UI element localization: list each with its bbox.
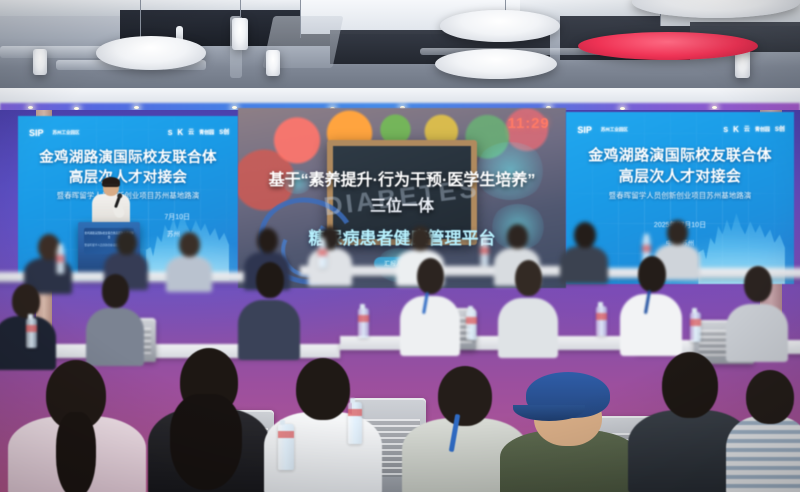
partner-logo-5: S创: [219, 130, 229, 136]
left-banner-title-line1: 金鸡湖路演国际校友联合体: [18, 146, 238, 167]
partner-logo-4: 青创园: [199, 131, 214, 136]
conference-photo: SIP 苏州工业园区 S K 云 青创园 S创 金鸡湖路演国际校友联合体 高层次…: [0, 0, 800, 492]
left-banner-logos: SIP 苏州工业园区 S K 云 青创园 S创: [29, 124, 229, 142]
partner-logo-4: 青创园: [755, 128, 770, 133]
right-banner-title-line2: 高层次人才对接会: [566, 165, 794, 186]
disc-pendant-light: [96, 36, 206, 70]
audience-person: [146, 348, 272, 492]
screen-corner-number: 11:29: [508, 115, 550, 132]
red-disc-pendant-light: [578, 32, 758, 60]
water-bottle: [466, 310, 477, 340]
sip-secondary-logo: 苏州工业园区: [53, 131, 80, 136]
audience-person: [726, 370, 800, 492]
sip-logo: SIP: [29, 129, 44, 138]
water-bottle: [348, 402, 362, 444]
sip-secondary-logo: 苏州工业园区: [601, 128, 628, 133]
water-bottle: [26, 318, 37, 348]
right-banner-subtitle: 暨春晖留学人员创新创业项目苏州基地路演: [566, 190, 794, 201]
center-screen-line2: 三位一体: [238, 192, 566, 216]
pendant-light: [266, 50, 280, 76]
audience-area: [0, 232, 800, 492]
partner-logo-3: 云: [188, 130, 194, 136]
water-bottle: [358, 308, 369, 338]
water-bottle: [278, 424, 294, 470]
audience-person: [8, 360, 146, 492]
partner-logo-1: S: [723, 127, 728, 134]
pendant-light: [232, 18, 248, 50]
right-banner-logos: SIP 苏州工业园区 S K 云 青创园 S创: [577, 121, 785, 140]
partner-logo-5: S创: [775, 127, 785, 133]
water-bottle: [690, 312, 701, 342]
center-screen-line1: 基于“素养提升·行为干预·医学生培养”: [238, 166, 566, 190]
right-banner-title-line1: 金鸡湖路演国际校友联合体: [566, 144, 794, 165]
sip-logo: SIP: [577, 126, 592, 135]
partner-logo-2: K: [733, 126, 739, 134]
disc-pendant-light: [435, 49, 557, 79]
ceiling: [0, 0, 800, 96]
baseball-cap: [526, 372, 610, 418]
audience-person-with-cap: [500, 378, 640, 492]
disc-pendant-light: [440, 10, 560, 42]
partner-logo-3: 云: [744, 127, 750, 133]
pendant-light: [33, 49, 47, 75]
water-bottle: [596, 306, 607, 336]
partner-logo-2: K: [177, 129, 183, 137]
partner-logo-1: S: [168, 130, 173, 137]
